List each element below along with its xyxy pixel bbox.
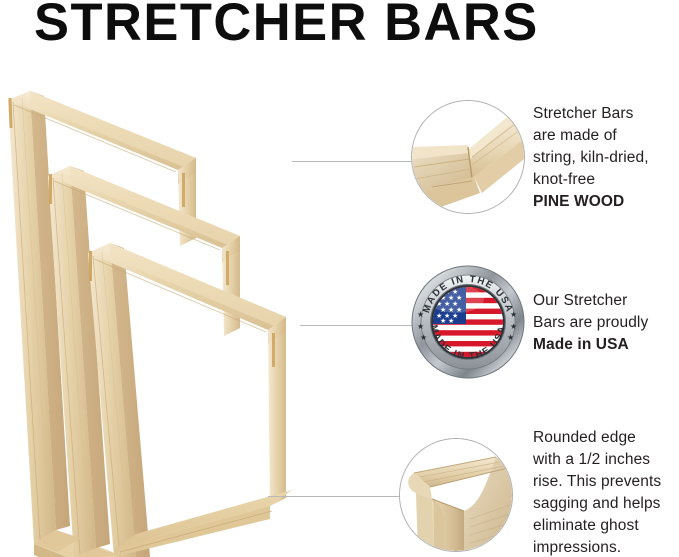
callout1-line-3: string, kiln-dried, bbox=[533, 147, 679, 169]
callout1-line-2: are made of bbox=[533, 125, 679, 147]
stretcher-bars-illustration bbox=[0, 78, 350, 557]
callout3-line-3: rise. This prevents bbox=[533, 471, 679, 493]
callout2-line-1: Our Stretcher bbox=[533, 290, 679, 312]
made-in-usa-badge: ★★★ ★★★ ★★★ ★★★ ★★★ ★★ MADE IN THE USA M… bbox=[411, 265, 525, 379]
connector-line-made-in-usa bbox=[300, 325, 414, 326]
connector-line-pine-wood bbox=[292, 161, 414, 162]
callout-text-pine-wood: Stretcher Bars are made of string, kiln-… bbox=[533, 103, 679, 213]
svg-text:★: ★ bbox=[448, 317, 454, 325]
callout1-line-1: Stretcher Bars bbox=[533, 103, 679, 125]
callout3-line-2: with a 1/2 inches bbox=[533, 449, 679, 471]
svg-text:★: ★ bbox=[440, 317, 446, 325]
frames-svg bbox=[0, 78, 350, 557]
rounded-edge-profile-photo bbox=[399, 438, 513, 552]
connector-line-rounded-edge bbox=[268, 496, 412, 497]
svg-text:★: ★ bbox=[510, 322, 517, 331]
made-in-usa-badge-icon: ★★★ ★★★ ★★★ ★★★ ★★★ ★★ MADE IN THE USA M… bbox=[411, 265, 525, 379]
callout3-line-6: impressions. bbox=[533, 537, 679, 557]
rounded-edge-profile-icon bbox=[400, 439, 512, 551]
stretcher-frame-front bbox=[88, 243, 292, 557]
infographic-page: STRETCHER BARS bbox=[0, 0, 679, 557]
svg-text:★: ★ bbox=[417, 322, 424, 331]
wood-corner-joint-photo bbox=[411, 100, 525, 214]
svg-text:★: ★ bbox=[420, 333, 427, 342]
callout1-line-4: knot-free bbox=[533, 169, 679, 191]
svg-text:★: ★ bbox=[507, 333, 514, 342]
callout2-line-2: Bars are proudly bbox=[533, 312, 679, 334]
callout1-bold-line: PINE WOOD bbox=[533, 191, 679, 213]
callout3-line-1: Rounded edge bbox=[533, 427, 679, 449]
callout2-bold-line: Made in USA bbox=[533, 334, 679, 356]
callout-text-made-in-usa: Our Stretcher Bars are proudly Made in U… bbox=[533, 290, 679, 356]
page-title: STRETCHER BARS bbox=[34, 0, 539, 51]
callout3-line-5: eliminate ghost bbox=[533, 515, 679, 537]
wood-corner-joint-icon bbox=[412, 101, 524, 213]
svg-text:★: ★ bbox=[510, 310, 517, 319]
callout-text-rounded-edge: Rounded edge with a 1/2 inches rise. Thi… bbox=[533, 427, 679, 557]
svg-text:★: ★ bbox=[417, 310, 424, 319]
callout3-line-4: sagging and helps bbox=[533, 493, 679, 515]
